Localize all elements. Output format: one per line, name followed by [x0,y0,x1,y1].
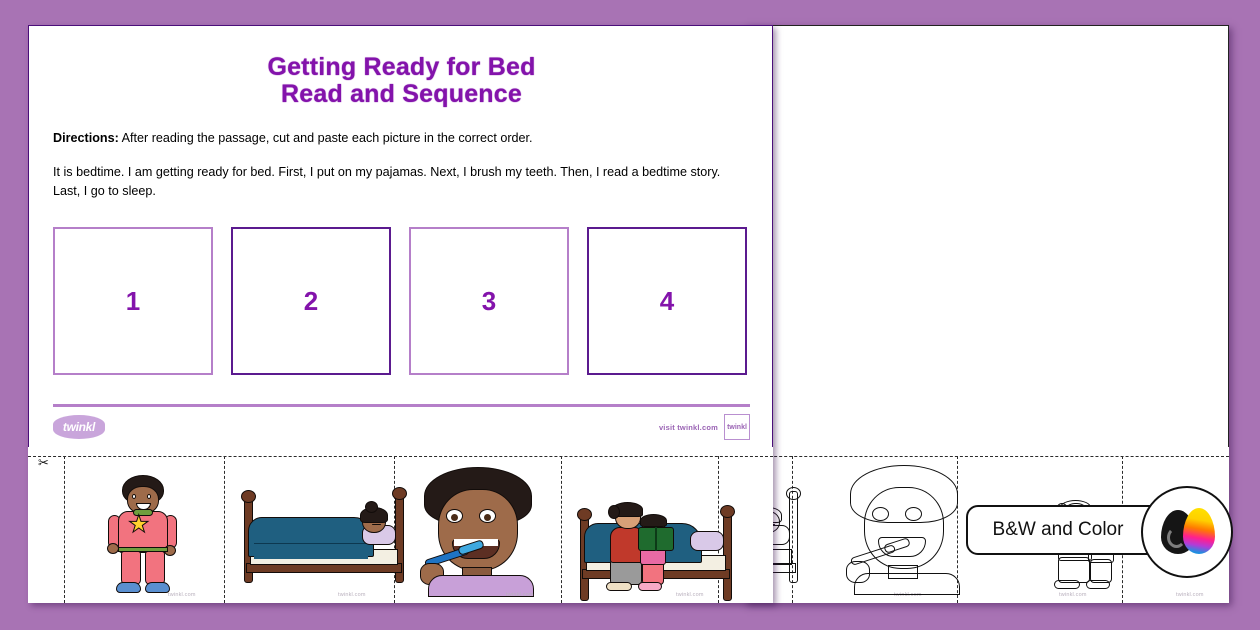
directions: Directions: After reading the passage, c… [53,130,750,147]
sequence-box-3[interactable]: 3 [409,227,569,375]
card-watermark-4: twinkl.com [676,592,704,598]
title-line-2: Read and Sequence [29,81,773,108]
twinkl-logo-text: twinkl [53,415,105,439]
sequence-box-1[interactable]: 1 [53,227,213,375]
twinkl-logo: twinkl [53,415,105,439]
illustration-child-in-pajamas [100,475,186,595]
card-watermark-bw-2: twinkl.com [1059,592,1087,598]
footer: twinkl visit twinkl.com twinkl [29,404,773,447]
twinkl-badge-text: twinkl [727,424,747,431]
card-watermark-2: twinkl.com [338,592,366,598]
sequence-number-3: 3 [482,288,496,314]
illustration-bedtime-story [576,471,748,591]
sequence-box-2[interactable]: 2 [231,227,391,375]
sequence-number-1: 1 [126,288,140,314]
sequence-number-2: 2 [304,288,318,314]
scissors-icon: ✂ [38,456,49,469]
visit-link[interactable]: visit twinkl.com [659,423,718,432]
sequence-boxes: 1 2 3 4 [29,227,773,375]
sequence-box-4[interactable]: 4 [587,227,747,375]
cut-line-vertical-2 [224,456,225,603]
bw-and-color-badge[interactable]: B&W and Color [966,505,1166,555]
passage: It is bedtime. I am getting ready for be… [53,163,750,201]
card-watermark-bw-3: twinkl.com [1176,592,1204,598]
cut-line-horizontal-bw [744,456,1229,457]
card-watermark-1: twinkl.com [168,592,196,598]
ink-drop-cmyk [1183,508,1215,554]
illustration-child-brushing-teeth [418,467,544,595]
cut-out-strip-color: ✂ twinkl.com twinkl.com twinkl.com [28,447,773,603]
cut-line-horizontal: ✂ [28,456,773,457]
illustration-child-asleep-in-bed [240,487,408,585]
twinkl-badge: twinkl [724,414,750,440]
page-title: Getting Ready for Bed Read and Sequence [29,54,773,108]
ink-drop-icon [1141,486,1233,578]
bw-and-color-label: B&W and Color [993,519,1124,541]
directions-label: Directions: [53,131,119,145]
title-line-1: Getting Ready for Bed [29,54,773,81]
cut-line-vertical-4 [561,456,562,603]
card-watermark-3: twinkl.com [506,592,534,598]
illustration-child-brushing-teeth-bw [844,465,970,593]
directions-text: After reading the passage, cut and paste… [122,131,533,145]
sequence-number-4: 4 [660,288,674,314]
cut-line-vertical-1 [64,456,65,603]
